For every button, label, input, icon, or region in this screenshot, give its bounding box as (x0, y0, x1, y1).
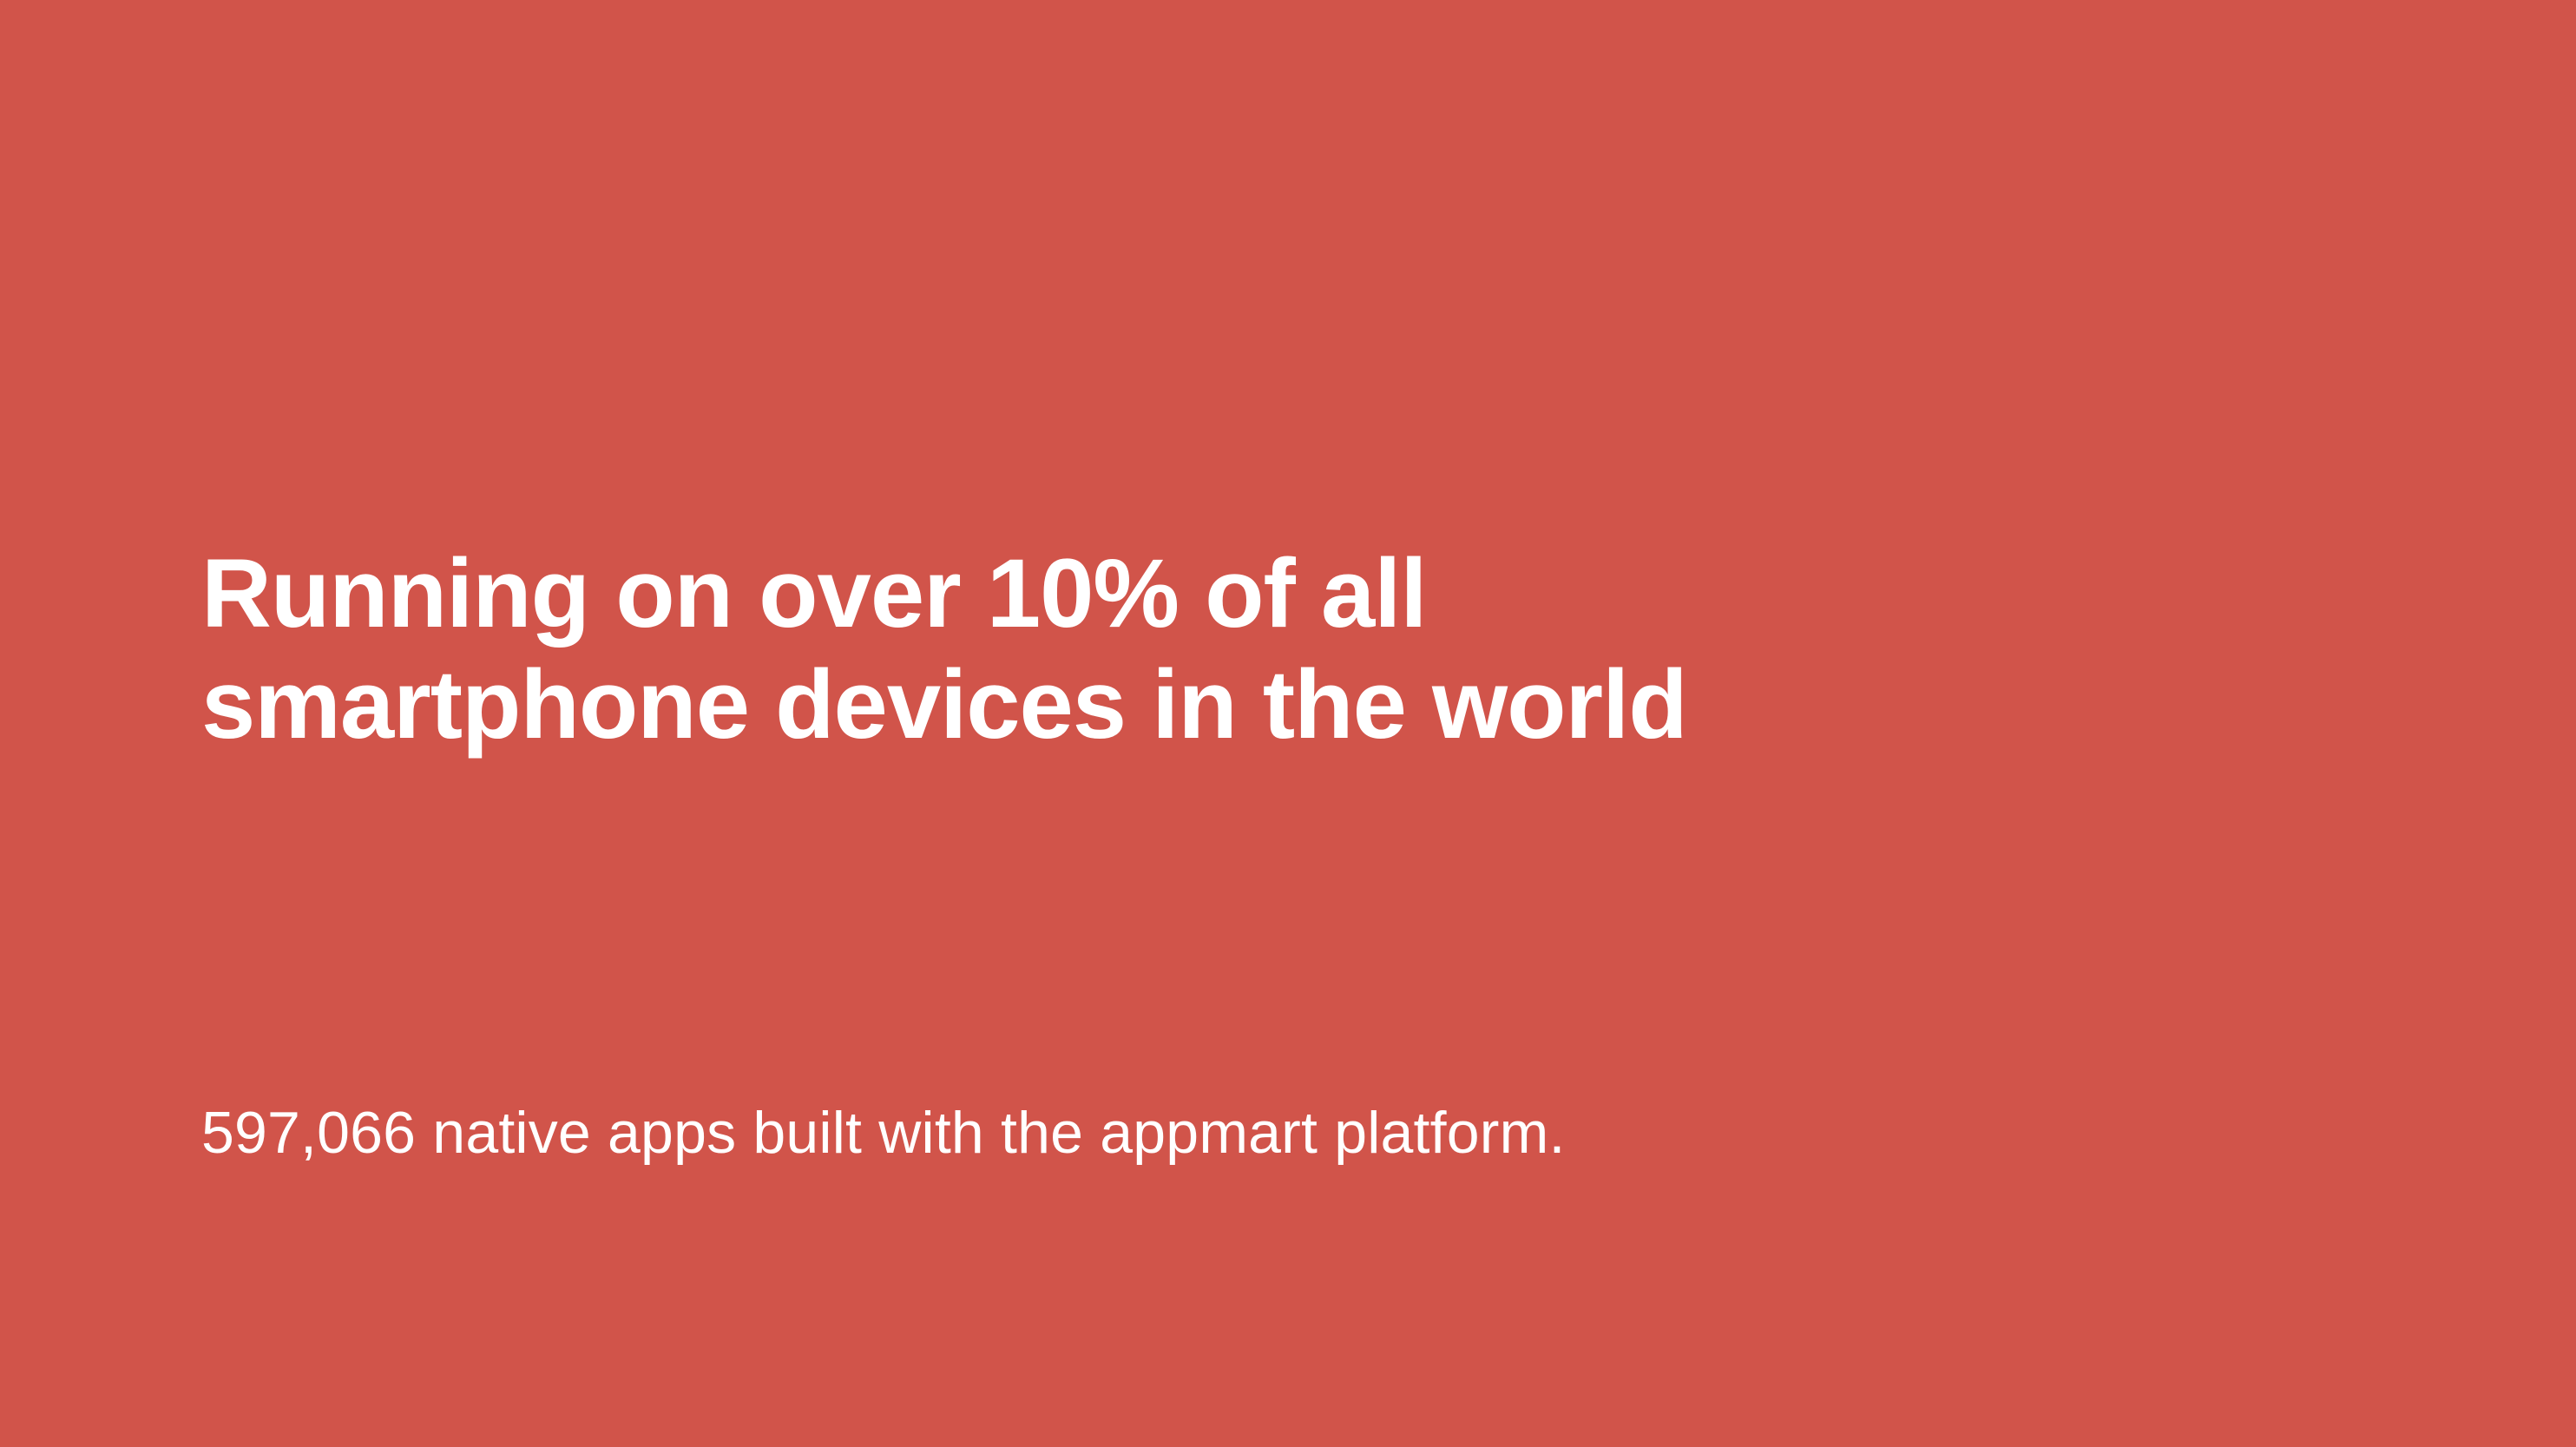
marketing-stat-slide: Running on over 10% of all smartphone de… (0, 0, 2576, 1447)
headline-block: Running on over 10% of all smartphone de… (201, 538, 2284, 760)
stat-subtext: 597,066 native apps built with the appma… (201, 1095, 2284, 1170)
subtext-block: 597,066 native apps built with the appma… (201, 1095, 2284, 1170)
page-title: Running on over 10% of all smartphone de… (201, 538, 2284, 760)
